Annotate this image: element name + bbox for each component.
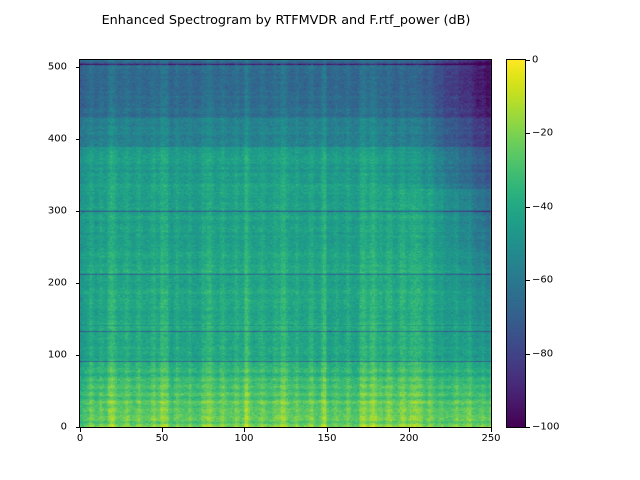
colorbar-tick-mark (526, 280, 530, 281)
x-tick-label: 50 (156, 433, 169, 444)
x-tick-label: 250 (481, 433, 500, 444)
x-tick-label: 100 (234, 433, 253, 444)
x-tick-mark (409, 428, 410, 432)
y-tick-label: 100 (48, 350, 67, 361)
colorbar-tick-mark (526, 207, 530, 208)
colorbar-tick-label: −20 (532, 128, 553, 139)
matplotlib-figure: Enhanced Spectrogram by RTFMVDR and F.rt… (0, 0, 640, 480)
y-tick-mark (76, 427, 80, 428)
y-tick-label: 200 (48, 278, 67, 289)
x-tick-mark (327, 428, 328, 432)
x-tick-mark (491, 428, 492, 432)
y-tick-mark (76, 139, 80, 140)
colorbar-tick-mark (526, 354, 530, 355)
page-title: Enhanced Spectrogram by RTFMVDR and F.rt… (0, 13, 572, 28)
y-tick-mark (76, 355, 80, 356)
colorbar-tick-mark (526, 427, 530, 428)
colorbar-tick-label: 0 (532, 55, 538, 66)
y-tick-label: 400 (48, 134, 67, 145)
x-tick-label: 0 (77, 433, 83, 444)
colorbar-tick-label: −80 (532, 349, 553, 360)
x-tick-mark (244, 428, 245, 432)
y-tick-mark (76, 211, 80, 212)
x-tick-mark (162, 428, 163, 432)
colorbar (506, 59, 526, 428)
x-tick-label: 200 (399, 433, 418, 444)
colorbar-tick-mark (526, 60, 530, 61)
colorbar-gradient (507, 60, 525, 427)
y-tick-label: 500 (48, 62, 67, 73)
spectrogram-heatmap (80, 60, 491, 427)
colorbar-tick-label: −60 (532, 275, 553, 286)
y-tick-mark (76, 67, 80, 68)
y-tick-label: 300 (48, 206, 67, 217)
colorbar-tick-mark (526, 133, 530, 134)
colorbar-tick-label: −40 (532, 202, 553, 213)
colorbar-tick-label: −100 (532, 422, 559, 433)
y-tick-mark (76, 283, 80, 284)
x-tick-mark (80, 428, 81, 432)
y-tick-label: 0 (61, 422, 67, 433)
spectrogram-axes (79, 59, 492, 428)
x-tick-label: 150 (317, 433, 336, 444)
